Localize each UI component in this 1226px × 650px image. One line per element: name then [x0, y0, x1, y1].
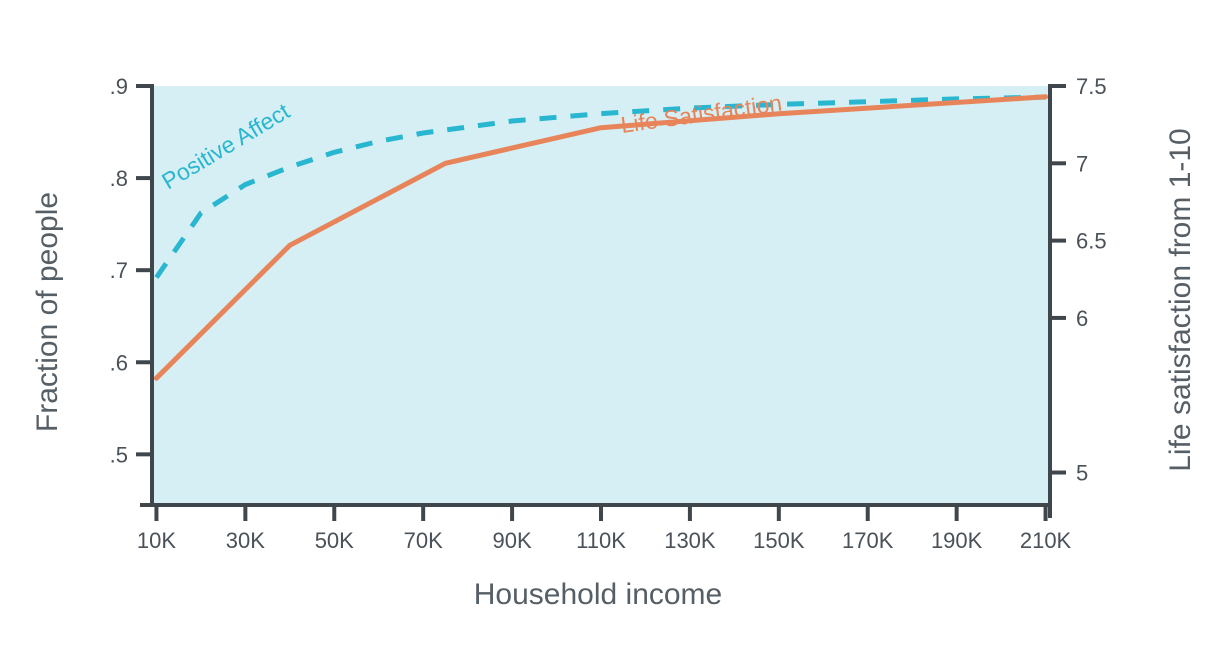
- x-tick-label: 210K: [1020, 528, 1072, 553]
- left-tick-label: .6: [110, 350, 128, 375]
- income-wellbeing-chart: .5.6.7.8.9 566.577.5 10K30K50K70K90K110K…: [0, 0, 1226, 650]
- right-tick-label: 6.5: [1076, 229, 1107, 254]
- x-tick-label: 90K: [493, 528, 532, 553]
- x-tick-label: 190K: [931, 528, 983, 553]
- x-tick-label: 110K: [576, 528, 626, 553]
- left-axis-ticks: [136, 86, 152, 454]
- plot-area-fill: [152, 86, 1050, 504]
- x-tick-label: 50K: [315, 528, 354, 553]
- y-axis-left-title: Fraction of people: [31, 192, 64, 432]
- x-tick-label: 70K: [404, 528, 443, 553]
- right-axis-tick-labels: 566.577.5: [1076, 74, 1107, 486]
- x-tick-label: 10K: [137, 528, 176, 553]
- x-tick-label: 130K: [664, 528, 716, 553]
- chart-container: .5.6.7.8.9 566.577.5 10K30K50K70K90K110K…: [0, 0, 1226, 650]
- right-tick-label: 5: [1076, 461, 1088, 486]
- x-tick-label: 30K: [226, 528, 265, 553]
- left-tick-label: .9: [110, 74, 128, 99]
- y-axis-right-title: Life satisfaction from 1-10: [1164, 128, 1197, 472]
- x-axis-ticks: [156, 505, 1045, 521]
- left-tick-label: .8: [110, 166, 128, 191]
- x-tick-label: 150K: [753, 528, 805, 553]
- right-tick-label: 7.5: [1076, 74, 1107, 99]
- right-axis-ticks: [1050, 86, 1066, 473]
- left-axis-tick-labels: .5.6.7.8.9: [110, 74, 128, 467]
- x-tick-label: 170K: [842, 528, 894, 553]
- left-tick-label: .5: [110, 442, 128, 467]
- left-tick-label: .7: [110, 258, 128, 283]
- x-axis-tick-labels: 10K30K50K70K90K110K130K150K170K190K210K: [137, 528, 1072, 553]
- right-tick-label: 7: [1076, 151, 1088, 176]
- x-axis-title: Household income: [474, 578, 722, 611]
- right-tick-label: 6: [1076, 306, 1088, 331]
